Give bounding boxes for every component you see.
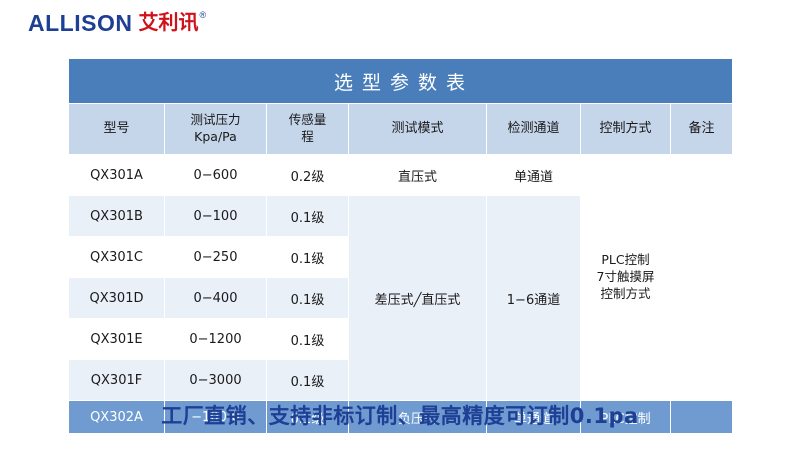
cell-remark-merged <box>671 155 733 401</box>
cell-range: 0.1级 <box>267 319 349 360</box>
control-line3: 控制方式 <box>582 286 669 303</box>
footer-tagline: 工厂直销、支持非标订制、最高精度可订制0.1pa <box>0 400 800 430</box>
cell-model: QX301A <box>69 155 165 196</box>
cell-model: QX301F <box>69 360 165 401</box>
cell-range: 0.1级 <box>267 196 349 237</box>
cell-mode-merged: 差压式╱直压式 <box>349 196 487 401</box>
header-mode: 测试模式 <box>349 104 487 155</box>
cell-model: QX301E <box>69 319 165 360</box>
brand-name-cn: 艾利讯 <box>138 12 198 32</box>
header-channel: 检测通道 <box>487 104 581 155</box>
cell-control-merged: PLC控制 7寸触摸屏 控制方式 <box>581 155 671 401</box>
cell-mode: 直压式 <box>349 155 487 196</box>
spec-table-container: 选型参数表 型号 测试压力 Kpa/Pa 传感量 程 测试模式 <box>68 58 732 434</box>
control-line2: 7寸触摸屏 <box>582 269 669 286</box>
control-line1: PLC控制 <box>582 252 669 269</box>
header-pressure-line2: Kpa/Pa <box>166 129 265 146</box>
cell-range: 0.2级 <box>267 155 349 196</box>
trademark-icon: ® <box>199 10 206 20</box>
table-row: QX301A 0−600 0.2级 直压式 单通道 PLC控制 7寸触摸屏 控制… <box>69 155 733 196</box>
header-model: 型号 <box>69 104 165 155</box>
cell-pressure: 0−600 <box>165 155 267 196</box>
header-control: 控制方式 <box>581 104 671 155</box>
spec-table: 选型参数表 型号 测试压力 Kpa/Pa 传感量 程 测试模式 <box>68 58 733 434</box>
cell-pressure: 0−100 <box>165 196 267 237</box>
table-title-row: 选型参数表 <box>69 59 733 104</box>
cell-range: 0.1级 <box>267 278 349 319</box>
header-range-line2: 程 <box>268 129 347 146</box>
cell-pressure: 0−3000 <box>165 360 267 401</box>
header-range-line1: 传感量 <box>268 112 347 129</box>
header-pressure: 测试压力 Kpa/Pa <box>165 104 267 155</box>
cell-pressure: 0−400 <box>165 278 267 319</box>
cell-model: QX301D <box>69 278 165 319</box>
header-remark: 备注 <box>671 104 733 155</box>
cell-range: 0.1级 <box>267 237 349 278</box>
brand-logo: ALLISON 艾利讯 ® <box>28 12 206 35</box>
cell-pressure: 0−1200 <box>165 319 267 360</box>
table-header-row: 型号 测试压力 Kpa/Pa 传感量 程 测试模式 检测通道 控制方式 备注 <box>69 104 733 155</box>
cell-channel: 单通道 <box>487 155 581 196</box>
header-pressure-line1: 测试压力 <box>166 112 265 129</box>
brand-name-en: ALLISON <box>28 12 132 35</box>
cell-model: QX301C <box>69 237 165 278</box>
header-range: 传感量 程 <box>267 104 349 155</box>
cell-pressure: 0−250 <box>165 237 267 278</box>
cell-channel-merged: 1−6通道 <box>487 196 581 401</box>
cell-model: QX301B <box>69 196 165 237</box>
cell-range: 0.1级 <box>267 360 349 401</box>
table-title: 选型参数表 <box>69 59 733 104</box>
